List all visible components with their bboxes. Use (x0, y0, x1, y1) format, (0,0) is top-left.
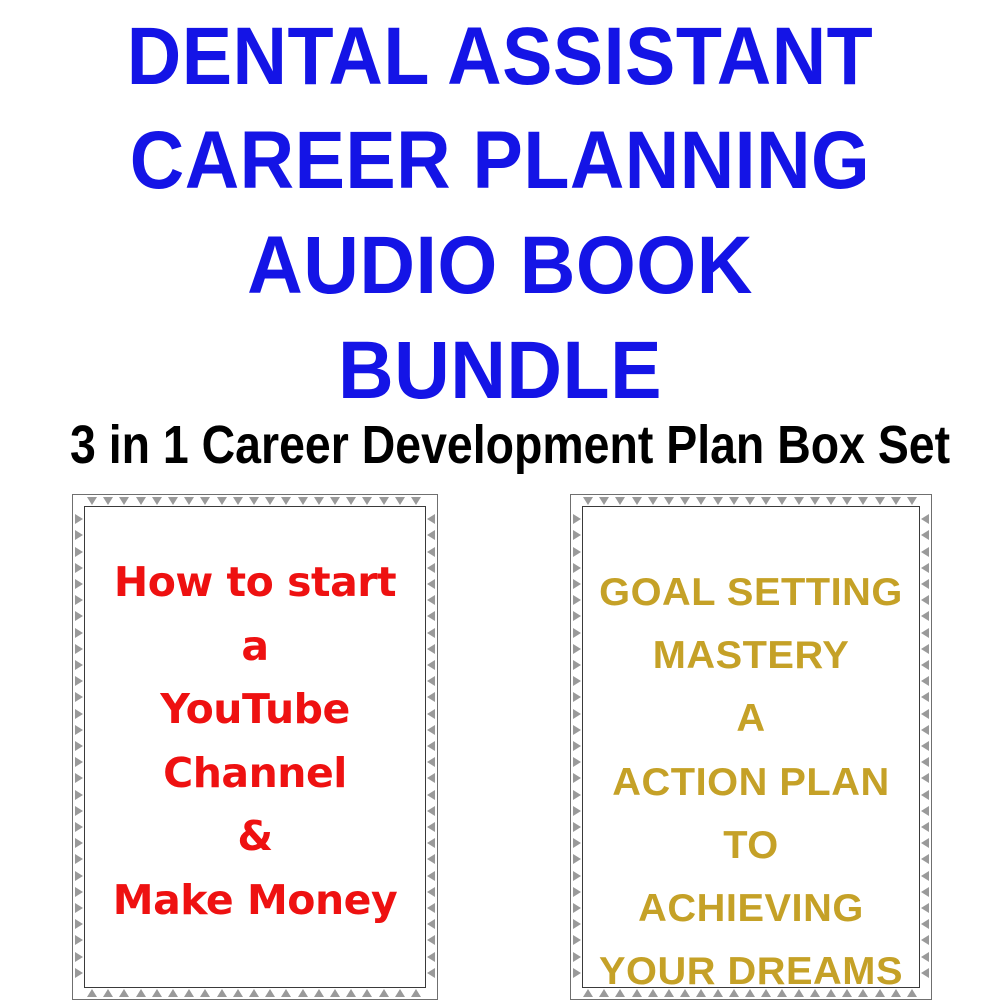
triangle-icon (729, 497, 739, 505)
triangle-icon (281, 497, 291, 505)
triangle-icon (427, 530, 435, 540)
triangle-icon (103, 497, 113, 505)
cover-line: YouTube (75, 678, 435, 742)
triangle-icon (168, 497, 178, 505)
triangle-icon (119, 497, 129, 505)
triangle-icon (136, 989, 146, 997)
triangle-icon (599, 497, 609, 505)
triangle-icon (87, 497, 97, 505)
book-cover-youtube-channel: How to start a YouTube Channel & Make Mo… (72, 494, 438, 1000)
triangle-icon (281, 989, 291, 997)
headline-line-2: CAREER PLANNING (40, 120, 960, 202)
triangle-icon (664, 497, 674, 505)
triangle-icon (217, 497, 227, 505)
cover-line: YOUR DREAMS (569, 940, 932, 1000)
triangle-icon (583, 497, 593, 505)
triangle-icon (921, 547, 929, 557)
triangle-icon (427, 514, 435, 524)
triangle-icon (346, 497, 356, 505)
cover-line: Channel (75, 742, 435, 806)
triangle-icon (103, 989, 113, 997)
cover-line: ACTION PLAN (569, 751, 932, 814)
cover-line: & (75, 805, 435, 869)
triangle-icon (75, 530, 83, 540)
cover-line: How to start (75, 551, 435, 615)
book-cover-row: How to start a YouTube Channel & Make Mo… (0, 494, 1000, 1000)
cover-line: ACHIEVING (569, 877, 932, 940)
triangle-icon (810, 497, 820, 505)
triangle-icon (696, 497, 706, 505)
cover-line: A (569, 687, 932, 750)
book-cover-title-youtube-channel: How to start a YouTube Channel & Make Mo… (75, 551, 435, 932)
triangle-icon (75, 952, 83, 962)
triangle-icon (75, 935, 83, 945)
headline-line-3: AUDIO BOOK (30, 225, 970, 307)
triangle-icon (362, 497, 372, 505)
triangle-icon (314, 497, 324, 505)
triangle-icon (346, 989, 356, 997)
triangle-icon (427, 968, 435, 978)
triangle-icon (119, 989, 129, 997)
triangle-icon (249, 989, 259, 997)
triangle-icon (395, 497, 405, 505)
triangle-icon (233, 497, 243, 505)
triangle-icon (395, 989, 405, 997)
triangle-icon (761, 497, 771, 505)
border-triangles-bottom (74, 987, 436, 998)
triangle-icon (632, 497, 642, 505)
triangle-icon (875, 497, 885, 505)
triangle-icon (217, 989, 227, 997)
headline-line-4: BUNDLE (30, 330, 970, 412)
triangle-icon (573, 547, 581, 557)
book-cover-page: DENTAL ASSISTANT CAREER PLANNING AUDIO B… (0, 0, 1000, 1000)
triangle-icon (184, 989, 194, 997)
triangle-icon (379, 497, 389, 505)
triangle-icon (314, 989, 324, 997)
triangle-icon (249, 497, 259, 505)
triangle-icon (265, 497, 275, 505)
triangle-icon (427, 935, 435, 945)
triangle-icon (75, 514, 83, 524)
cover-line: MASTERY (569, 624, 932, 687)
triangle-icon (152, 497, 162, 505)
headline-line-1: DENTAL ASSISTANT (40, 16, 960, 98)
triangle-icon (362, 989, 372, 997)
triangle-icon (233, 989, 243, 997)
book-inner-frame: GOAL SETTING MASTERY A ACTION PLAN TO AC… (582, 506, 920, 988)
triangle-icon (907, 497, 917, 505)
subtitle: 3 in 1 Career Development Plan Box Set (70, 418, 930, 472)
triangle-icon (136, 497, 146, 505)
cover-line: GOAL SETTING (569, 561, 932, 624)
triangle-icon (794, 497, 804, 505)
cover-line: a (75, 615, 435, 679)
triangle-icon (826, 497, 836, 505)
triangle-icon (200, 989, 210, 997)
triangle-icon (411, 497, 421, 505)
triangle-icon (200, 497, 210, 505)
triangle-icon (573, 514, 581, 524)
book-cover-goal-setting-mastery: GOAL SETTING MASTERY A ACTION PLAN TO AC… (570, 494, 932, 1000)
triangle-icon (427, 952, 435, 962)
triangle-icon (152, 989, 162, 997)
triangle-icon (680, 497, 690, 505)
cover-line: Make Money (75, 869, 435, 933)
triangle-icon (777, 497, 787, 505)
triangle-icon (298, 497, 308, 505)
triangle-icon (87, 989, 97, 997)
triangle-icon (745, 497, 755, 505)
triangle-icon (265, 989, 275, 997)
triangle-icon (379, 989, 389, 997)
triangle-icon (713, 497, 723, 505)
triangle-icon (184, 497, 194, 505)
cover-line: TO (569, 814, 932, 877)
triangle-icon (330, 497, 340, 505)
triangle-icon (648, 497, 658, 505)
triangle-icon (891, 497, 901, 505)
triangle-icon (858, 497, 868, 505)
triangle-icon (298, 989, 308, 997)
triangle-icon (330, 989, 340, 997)
triangle-icon (168, 989, 178, 997)
book-inner-frame: How to start a YouTube Channel & Make Mo… (84, 506, 426, 988)
triangle-icon (615, 497, 625, 505)
triangle-icon (411, 989, 421, 997)
triangle-icon (842, 497, 852, 505)
triangle-icon (921, 514, 929, 524)
book-cover-title-goal-setting-mastery: GOAL SETTING MASTERY A ACTION PLAN TO AC… (573, 561, 929, 1000)
triangle-icon (573, 530, 581, 540)
triangle-icon (75, 968, 83, 978)
triangle-icon (921, 530, 929, 540)
